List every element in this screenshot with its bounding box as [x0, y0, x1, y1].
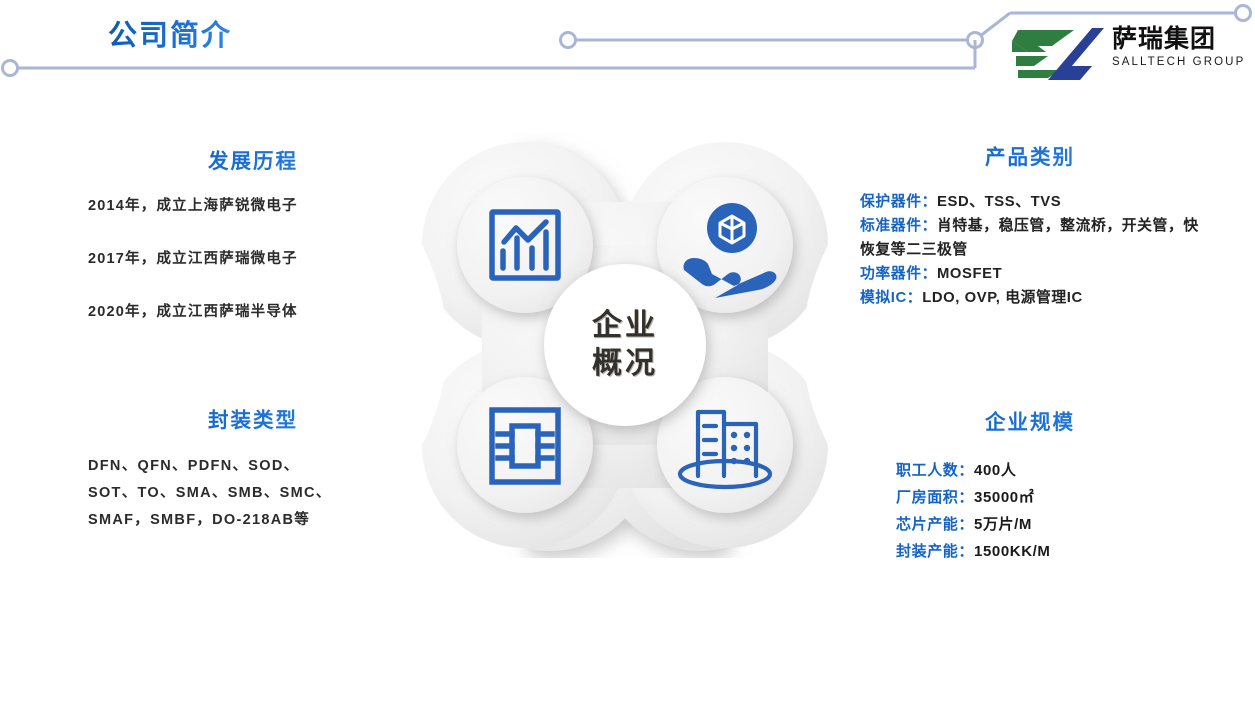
scale-label: 芯片产能： — [896, 516, 974, 533]
scale-label: 封装产能： — [896, 543, 974, 560]
center-diagram-svg — [412, 132, 838, 558]
package-heading: 封装类型 — [88, 403, 418, 433]
company-logo: 萨瑞集团 SALLTECH GROUP — [1012, 22, 1246, 86]
page-title: 公司简介 — [108, 12, 232, 54]
product-heading: 产品类别 — [860, 140, 1200, 170]
logo-name-cn: 萨瑞集团 — [1112, 24, 1248, 54]
scale-heading: 企业规模 — [860, 405, 1200, 435]
section-package-types: 封装类型 DFN、QFN、PDFN、SOD、SOT、TO、SMA、SMB、SMC… — [88, 403, 418, 534]
page-header: 公司简介 萨瑞集团 SALLTECH GROUP — [0, 0, 1255, 105]
scale-value: 35000㎡ — [974, 489, 1034, 506]
list-item: 厂房面积：35000㎡ — [896, 484, 1200, 511]
product-label: 模拟IC： — [860, 290, 922, 306]
scale-value: 1500KK/M — [974, 543, 1051, 560]
list-item: 模拟IC：LDO, OVP, 电源管理IC — [860, 286, 1200, 310]
list-item: 2014年，成立上海萨锐微电子 — [88, 196, 418, 216]
product-value: MOSFET — [937, 266, 1002, 282]
history-list: 2014年，成立上海萨锐微电子 2017年，成立江西萨瑞微电子 2020年，成立… — [88, 196, 418, 322]
section-development-history: 发展历程 2014年，成立上海萨锐微电子 2017年，成立江西萨瑞微电子 202… — [88, 144, 418, 355]
section-enterprise-scale: 企业规模 职工人数：400人 厂房面积：35000㎡ 芯片产能：5万片/M 封装… — [860, 405, 1200, 565]
logo-text: 萨瑞集团 SALLTECH GROUP — [1112, 24, 1248, 70]
scale-value: 5万片/M — [974, 516, 1032, 533]
scale-list: 职工人数：400人 厂房面积：35000㎡ 芯片产能：5万片/M 封装产能：15… — [860, 457, 1200, 565]
history-heading: 发展历程 — [88, 144, 418, 174]
list-item: 职工人数：400人 — [896, 457, 1200, 484]
list-item: 2017年，成立江西萨瑞微电子 — [88, 249, 418, 269]
list-item: 保护器件：ESD、TSS、TVS — [860, 190, 1200, 214]
product-label: 功率器件： — [860, 266, 937, 282]
package-body-text: DFN、QFN、PDFN、SOD、SOT、TO、SMA、SMB、SMC、SMAF… — [88, 453, 333, 534]
scale-value: 400人 — [974, 462, 1016, 479]
section-product-category: 产品类别 保护器件：ESD、TSS、TVS 标准器件：肖特基，稳压管，整流桥，开… — [860, 140, 1200, 310]
product-list: 保护器件：ESD、TSS、TVS 标准器件：肖特基，稳压管，整流桥，开关管，快恢… — [860, 190, 1200, 310]
logo-name-en: SALLTECH GROUP — [1112, 55, 1248, 70]
list-item: 功率器件：MOSFET — [860, 262, 1200, 286]
center-circle — [544, 264, 706, 426]
product-value: ESD、TSS、TVS — [937, 194, 1061, 210]
scale-label: 职工人数： — [896, 462, 974, 479]
salltech-logo-mark — [1012, 26, 1104, 82]
product-label: 保护器件： — [860, 194, 937, 210]
center-diagram: 企业 概况 — [412, 132, 838, 558]
list-item: 标准器件：肖特基，稳压管，整流桥，开关管，快恢复等二三极管 — [860, 214, 1200, 262]
product-label: 标准器件： — [860, 218, 937, 234]
product-value: LDO, OVP, 电源管理IC — [922, 290, 1083, 306]
list-item: 芯片产能：5万片/M — [896, 511, 1200, 538]
list-item: 封装产能：1500KK/M — [896, 538, 1200, 565]
scale-label: 厂房面积： — [896, 489, 974, 506]
list-item: 2020年，成立江西萨瑞半导体 — [88, 302, 418, 322]
